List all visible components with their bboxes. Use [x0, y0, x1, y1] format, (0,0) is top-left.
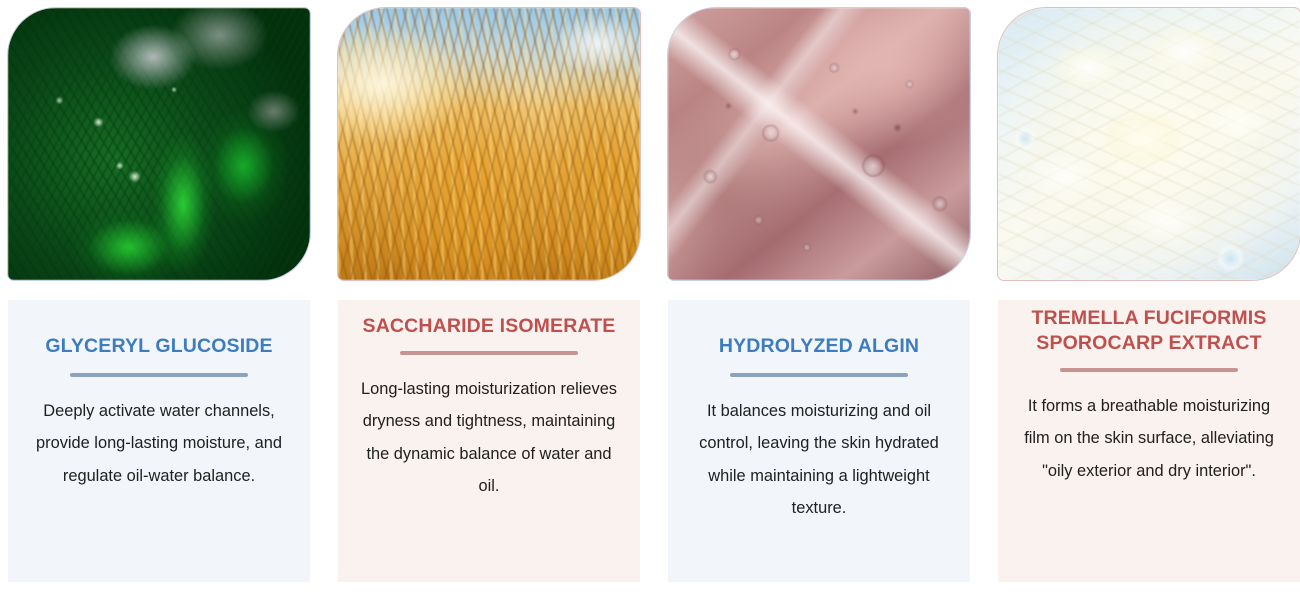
- card-text-panel: TREMELLA FUCIFORMIS SPOROCARP EXTRACT It…: [998, 300, 1300, 582]
- title-divider: [70, 373, 248, 377]
- ingredient-title: GLYCERYL GLUCOSIDE: [18, 334, 300, 359]
- card-text-panel: SACCHARIDE ISOMERATE Long-lasting moistu…: [338, 300, 640, 582]
- card-image-frame: [998, 8, 1300, 280]
- ingredient-description: It balances moisturizing and oil control…: [678, 395, 960, 525]
- card-image-frame: [8, 8, 310, 280]
- title-divider: [400, 351, 578, 355]
- card-text-panel: HYDROLYZED ALGIN It balances moisturizin…: [668, 300, 970, 582]
- ingredient-card-grid: GLYCERYL GLUCOSIDE Deeply activate water…: [0, 0, 1300, 594]
- ingredient-title: TREMELLA FUCIFORMIS SPOROCARP EXTRACT: [1008, 306, 1290, 356]
- ingredient-title: HYDROLYZED ALGIN: [678, 334, 960, 359]
- green-foliage-photo: [8, 8, 310, 280]
- pink-gel-texture-photo: [668, 8, 970, 280]
- golden-wheat-photo: [338, 8, 640, 280]
- card-image-frame: [668, 8, 970, 280]
- ingredient-description: It forms a breathable moisturizing film …: [1008, 390, 1290, 487]
- ingredient-description: Long-lasting moisturization relieves dry…: [348, 373, 630, 503]
- ingredient-card[interactable]: SACCHARIDE ISOMERATE Long-lasting moistu…: [338, 0, 650, 594]
- ingredient-card[interactable]: HYDROLYZED ALGIN It balances moisturizin…: [668, 0, 980, 594]
- title-divider: [730, 373, 908, 377]
- ingredient-title: SACCHARIDE ISOMERATE: [348, 314, 630, 339]
- tremella-fungus-photo: [998, 8, 1300, 280]
- ingredient-card[interactable]: GLYCERYL GLUCOSIDE Deeply activate water…: [8, 0, 320, 594]
- card-image-frame: [338, 8, 640, 280]
- ingredient-description: Deeply activate water channels, provide …: [18, 395, 300, 492]
- title-divider: [1060, 368, 1238, 372]
- card-text-panel: GLYCERYL GLUCOSIDE Deeply activate water…: [8, 300, 310, 582]
- ingredient-card[interactable]: TREMELLA FUCIFORMIS SPOROCARP EXTRACT It…: [998, 0, 1300, 594]
